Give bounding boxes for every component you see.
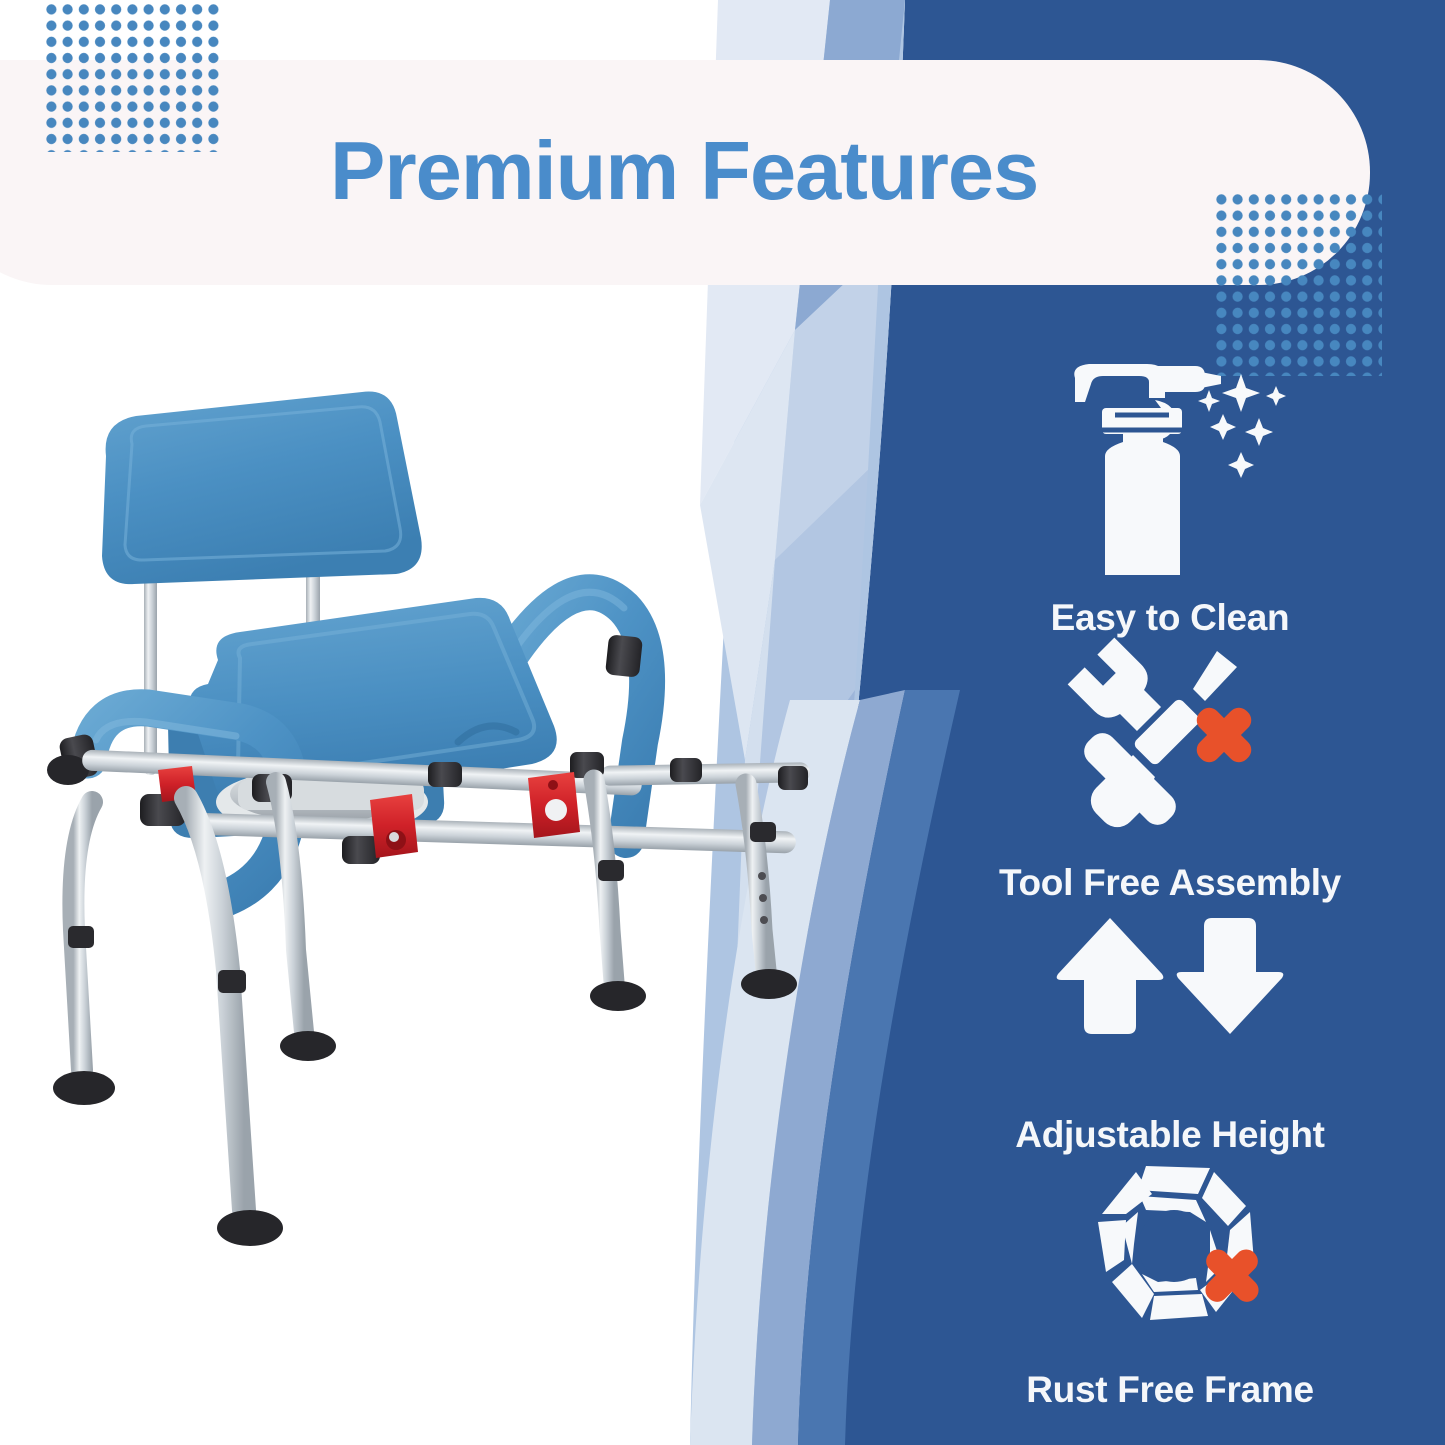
spray-bottle-icon — [1045, 360, 1295, 575]
feature-label: Adjustable Height — [1015, 1114, 1324, 1156]
rust-free-nut-icon — [1050, 1160, 1290, 1345]
feature-label: Easy to Clean — [1051, 597, 1290, 639]
feature-label: Tool Free Assembly — [999, 862, 1341, 904]
backrest-pad — [102, 392, 422, 585]
dot-grid-left — [46, 4, 224, 152]
feature-item-tool-free-assembly: Tool Free Assembly — [935, 635, 1405, 910]
feature-label: Rust Free Frame — [1026, 1369, 1314, 1411]
product-image — [40, 370, 860, 1330]
feature-item-rust-free-frame: Rust Free Frame — [935, 1160, 1405, 1405]
dot-grid-right — [1216, 194, 1382, 376]
feature-list: Easy to Clean — [935, 360, 1405, 1405]
page-title: Premium Features — [330, 123, 1038, 219]
infographic-canvas: Premium Features — [0, 0, 1445, 1445]
feature-item-easy-to-clean: Easy to Clean — [935, 360, 1405, 635]
x-mark — [1192, 703, 1256, 767]
up-down-arrows-icon — [1050, 910, 1290, 1090]
feature-item-adjustable-height: Adjustable Height — [935, 910, 1405, 1160]
wrench-screwdriver-no-tools-icon — [1045, 635, 1295, 840]
